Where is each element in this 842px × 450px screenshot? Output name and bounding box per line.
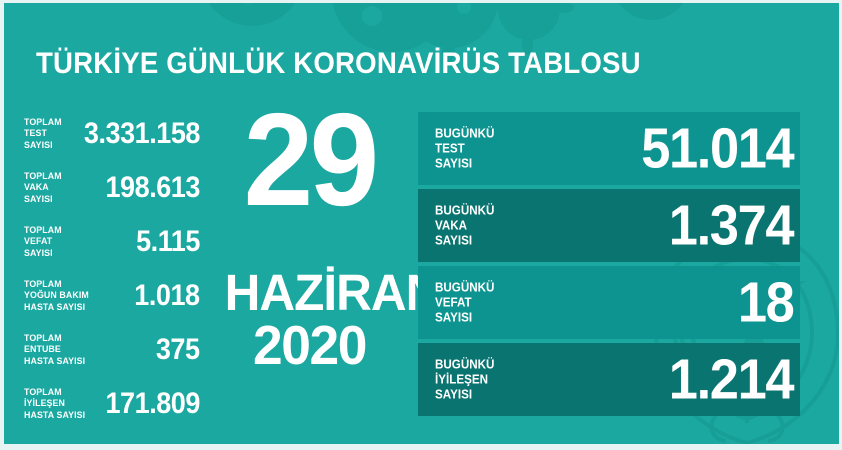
- virus-icon: [498, 0, 560, 40]
- total-value: 171.809: [106, 387, 200, 421]
- total-row: TOPLAM VAKA SAYISI 198.613: [24, 162, 200, 213]
- totals-column: TOPLAM TEST SAYISI 3.331.158 TOPLAM VAKA…: [24, 108, 200, 432]
- total-label: TOPLAM YOĞUN BAKIM HASTA SAYISI: [24, 278, 89, 313]
- daily-value: 1.214: [669, 351, 793, 408]
- total-label: TOPLAM VEFAT SAYISI: [24, 224, 62, 259]
- daily-label: BUGÜNKÜ TEST SAYISI: [435, 126, 494, 171]
- virus-icon: [612, 0, 690, 20]
- daily-value: 51.014: [641, 120, 793, 177]
- total-row: TOPLAM TEST SAYISI 3.331.158: [24, 108, 200, 159]
- virus-icon: [200, 0, 304, 26]
- total-row: TOPLAM YOĞUN BAKIM HASTA SAYISI 1.018: [24, 270, 200, 321]
- daily-label: BUGÜNKÜ VAKA SAYISI: [435, 203, 494, 248]
- total-label: TOPLAM İYİLEŞEN HASTA SAYISI: [24, 386, 85, 421]
- total-value: 3.331.158: [84, 117, 200, 151]
- daily-row: BUGÜNKÜ TEST SAYISI 51.014: [418, 112, 800, 185]
- total-value: 1.018: [135, 279, 200, 313]
- total-row: TOPLAM ENTUBE HASTA SAYISI 375: [24, 324, 200, 375]
- date-year: 2020: [225, 318, 395, 372]
- date-block: 29 HAZİRAN 2020: [222, 104, 397, 372]
- total-row: TOPLAM VEFAT SAYISI 5.115: [24, 216, 200, 267]
- page-title: TÜRKİYE GÜNLÜK KORONAVİRÜS TABLOSU: [36, 47, 641, 81]
- daily-row: BUGÜNKÜ VEFAT SAYISI 18: [418, 266, 800, 339]
- total-value: 375: [156, 333, 200, 367]
- total-row: TOPLAM İYİLEŞEN HASTA SAYISI 171.809: [24, 378, 200, 429]
- total-value: 198.613: [106, 171, 200, 205]
- total-label: TOPLAM VAKA SAYISI: [24, 170, 62, 205]
- daily-value: 18: [737, 274, 793, 331]
- daily-label: BUGÜNKÜ İYİLEŞEN SAYISI: [435, 357, 494, 402]
- coronavirus-daily-table-infographic: TÜRKİYE GÜNLÜK KORONAVİRÜS TABLOSU TOPLA…: [0, 0, 842, 450]
- daily-panel: BUGÜNKÜ TEST SAYISI 51.014 BUGÜNKÜ VAKA …: [418, 112, 800, 420]
- date-month: HAZİRAN: [225, 268, 395, 318]
- daily-value: 1.374: [669, 197, 793, 254]
- total-value: 5.115: [136, 225, 200, 259]
- daily-label: BUGÜNKÜ VEFAT SAYISI: [435, 280, 494, 325]
- total-label: TOPLAM TEST SAYISI: [24, 116, 62, 151]
- date-day: 29: [226, 104, 392, 216]
- daily-row: BUGÜNKÜ VAKA SAYISI 1.374: [418, 189, 800, 262]
- total-label: TOPLAM ENTUBE HASTA SAYISI: [24, 332, 85, 367]
- daily-row: BUGÜNKÜ İYİLEŞEN SAYISI 1.214: [418, 343, 800, 416]
